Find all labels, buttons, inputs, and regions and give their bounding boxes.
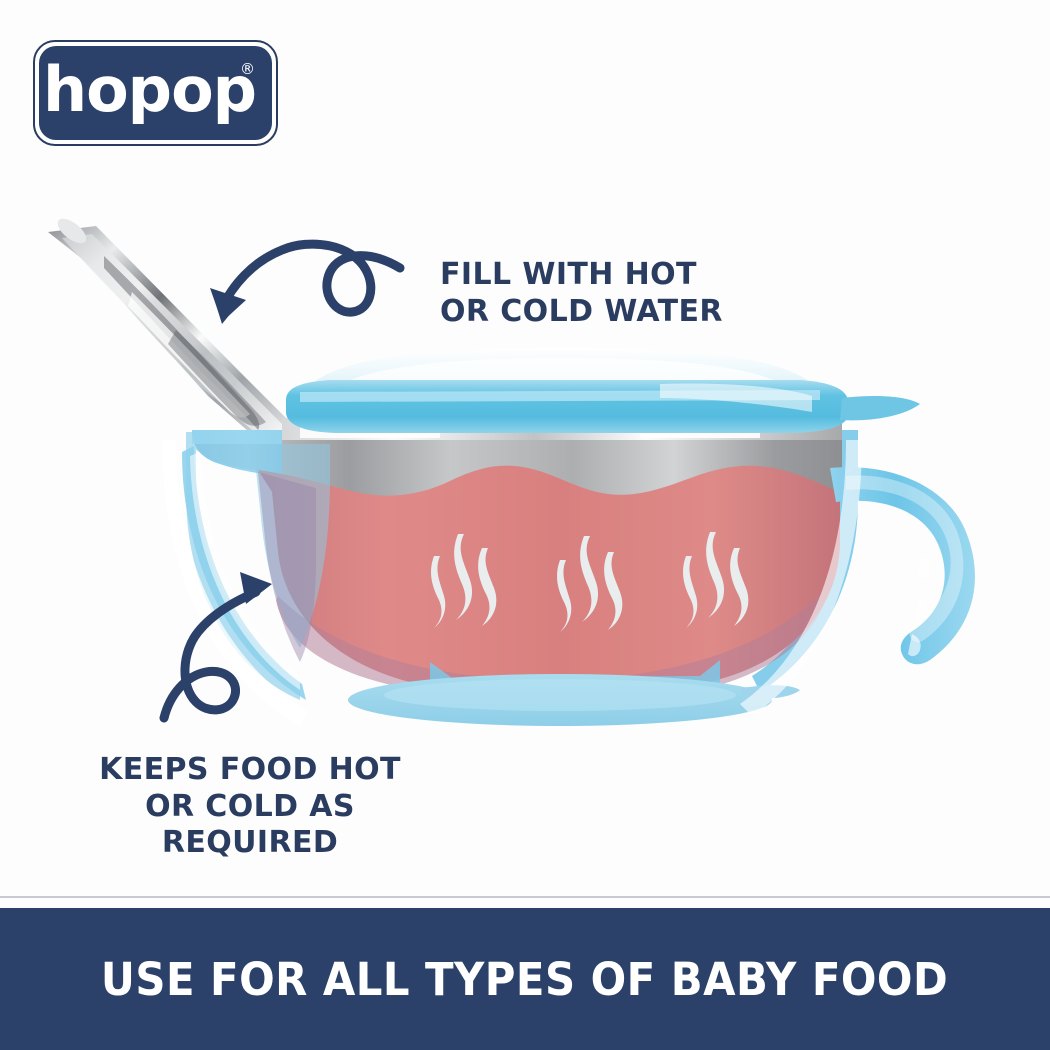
product-illustration (0, 0, 1050, 1050)
suction-base (348, 660, 800, 726)
steam-wave-icons (431, 532, 748, 632)
bowl-lid (286, 348, 920, 433)
bowl-outer-shell (186, 430, 858, 700)
callout-keeps-temperature: KEEPS FOOD HOT OR COLD AS REQUIRED (70, 752, 430, 862)
bottom-banner-text: USE FOR ALL TYPES OF BABY FOOD (101, 953, 948, 1006)
water-stream-icon (48, 214, 300, 452)
curly-arrow-down-left-icon (210, 244, 400, 324)
brand-logo: hopop ® (33, 40, 278, 146)
callout-fill-water: FILL WITH HOT OR COLD WATER (440, 257, 723, 330)
bowl-handle (830, 467, 975, 664)
banner-hairline-divider (0, 896, 1050, 898)
stainless-steel-band (282, 418, 842, 500)
brand-logo-text: hopop (43, 59, 256, 121)
bowl-translucent-overlay (196, 444, 330, 662)
registered-trademark-icon: ® (240, 60, 255, 78)
brand-logo-plate: hopop ® (39, 46, 272, 140)
bowl-left-edge (182, 446, 306, 700)
bottom-banner: USE FOR ALL TYPES OF BABY FOOD (0, 908, 1050, 1050)
product-glow (162, 440, 862, 726)
curly-arrow-up-right-icon (164, 572, 272, 718)
coral-bowl-body (258, 466, 840, 702)
product-infographic-page: hopop ® (0, 0, 1050, 1050)
